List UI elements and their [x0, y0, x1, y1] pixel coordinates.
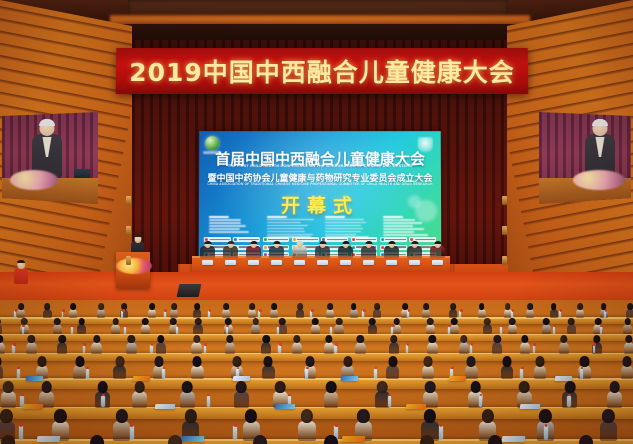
conference-booklet: [275, 404, 295, 409]
audience-member: [350, 302, 358, 318]
screen-credit-columns: [209, 216, 431, 238]
name-plate: [294, 260, 305, 265]
audience-member: [607, 378, 622, 408]
water-bottle: [448, 327, 450, 334]
wall-light-fixture: [126, 256, 131, 265]
wall-light-fixture: [502, 196, 507, 205]
audience-member: [0, 354, 3, 379]
audience-member: [426, 316, 435, 334]
audience-member: [542, 316, 551, 334]
audience-member: [576, 302, 584, 318]
seated-panelist: [315, 242, 330, 258]
audience-member: [191, 354, 204, 379]
water-bottle: [101, 396, 104, 408]
name-plate: [409, 260, 420, 265]
audience-member: [132, 378, 147, 408]
audience-member: [141, 316, 150, 334]
audience-member: [126, 333, 136, 354]
name-plate: [317, 260, 328, 265]
audience-member: [234, 378, 249, 408]
water-bottle: [207, 396, 210, 408]
audience-member: [113, 406, 130, 441]
audience-member: [450, 316, 459, 334]
audience-member: [113, 354, 126, 379]
audience-member: [261, 333, 271, 354]
audience-member: [418, 432, 438, 444]
audience-member: [180, 378, 195, 408]
main-led-screen: 首届中国中西融合儿童健康大会 THE FIRST CHILD HEALTH CO…: [199, 131, 442, 256]
audience-member: [0, 432, 18, 444]
water-bottle: [150, 345, 152, 353]
water-bottle: [593, 345, 595, 353]
water-bottle: [14, 311, 16, 317]
water-bottle: [19, 426, 23, 440]
audience-member: [225, 333, 235, 354]
audience-member: [368, 316, 377, 334]
audience-member: [111, 316, 120, 334]
name-plate: [248, 260, 259, 265]
seated-panelist: [384, 242, 399, 258]
auditorium-photograph: 2019中国中西融合儿童健康大会 首届中国中西融合儿童健康大会 THE FIRS…: [0, 0, 633, 444]
water-bottle: [22, 327, 24, 334]
audience-seating-area: [0, 300, 633, 444]
audience-member: [73, 354, 86, 379]
credit-column: [325, 216, 373, 238]
audience-member: [322, 432, 342, 444]
water-bottle: [12, 345, 14, 353]
right-projection-screen: [539, 112, 631, 204]
audience-member: [355, 333, 365, 354]
conference-booklet: [37, 436, 60, 442]
screen-title-en: THE FIRST CHILD HEALTH CONFERENCE ON THE…: [199, 164, 441, 168]
water-bottle: [406, 345, 408, 353]
audience-member: [459, 333, 469, 354]
audience-member: [43, 302, 51, 318]
water-bottle: [362, 311, 364, 317]
water-bottle: [334, 345, 336, 353]
feed-speaker-shirt: [596, 137, 605, 157]
audience-member: [1, 378, 16, 408]
audience-member: [520, 333, 530, 354]
feed-floral-arrangement: [10, 170, 58, 190]
conference-banner: 2019中国中西融合儿童健康大会: [116, 48, 529, 94]
banner-title: 2019中国中西融合儿童健康大会: [129, 53, 515, 89]
audience-member: [483, 316, 492, 334]
water-bottle: [278, 345, 280, 353]
audience-member: [624, 333, 633, 354]
seated-panelist: [246, 242, 261, 258]
audience-member: [57, 333, 67, 354]
audience-member: [298, 406, 315, 441]
audience-member: [193, 316, 202, 334]
water-bottle: [567, 396, 570, 408]
water-bottle: [544, 426, 548, 440]
water-bottle: [86, 369, 89, 379]
feed-floral-arrangement: [573, 170, 625, 190]
water-bottle: [470, 345, 472, 353]
seated-panelist: [430, 242, 445, 258]
conference-booklet: [502, 436, 525, 442]
water-bottle: [553, 327, 555, 334]
audience-member: [324, 378, 339, 408]
audience-member: [250, 432, 270, 444]
audience-member: [334, 316, 343, 334]
audience-member: [621, 354, 633, 379]
audience-member: [166, 432, 186, 444]
audience-member: [486, 432, 506, 444]
audience-member: [508, 316, 517, 334]
audience-member: [623, 316, 632, 334]
conference-booklet: [340, 376, 357, 381]
name-plate: [202, 260, 213, 265]
water-bottle: [407, 311, 409, 317]
name-plate: [363, 260, 374, 265]
audience-member: [389, 333, 399, 354]
audience-member: [534, 354, 547, 379]
credit-column: [267, 216, 315, 238]
water-bottle: [176, 327, 178, 334]
conference-booklet: [448, 376, 465, 381]
audience-member: [326, 302, 334, 318]
audience-member: [576, 432, 596, 444]
conference-booklet: [23, 404, 43, 409]
left-projection-screen: [2, 112, 98, 204]
name-plate: [386, 260, 397, 265]
wall-light-fixture: [502, 256, 507, 265]
water-bottle: [277, 327, 279, 334]
wall-light-fixture: [502, 226, 507, 235]
feed-speaker-shirt: [43, 137, 52, 157]
audience-member: [88, 432, 108, 444]
water-bottle: [388, 396, 391, 408]
audience-member: [600, 406, 617, 441]
water-bottle: [459, 311, 461, 317]
audience-member: [422, 354, 435, 379]
staff-member: [14, 258, 28, 284]
audience-member: [97, 302, 105, 318]
audience-member: [324, 333, 334, 354]
water-bottle: [164, 311, 166, 317]
screen-subtitle-en: CHINA ASSOCIATION OF TRADITIONAL CHINESE…: [199, 182, 441, 186]
water-bottle: [124, 327, 126, 334]
water-bottle: [305, 369, 308, 379]
conference-booklet: [342, 436, 365, 442]
audience-member: [427, 333, 437, 354]
audience-member: [156, 333, 166, 354]
seated-panelist: [292, 242, 307, 258]
audience-member: [292, 333, 302, 354]
name-plate: [225, 260, 236, 265]
water-bottle: [604, 311, 606, 317]
audience-member: [567, 316, 576, 334]
stage-monitor-speaker: [177, 284, 202, 297]
audience-member: [262, 354, 275, 379]
audience-member: [0, 316, 2, 334]
audience-member: [91, 333, 101, 354]
feed-speaker-hair: [592, 119, 608, 126]
audience-member: [501, 354, 514, 379]
audience-member: [251, 316, 260, 334]
wall-light-fixture: [126, 196, 131, 205]
water-bottle: [71, 327, 73, 334]
name-plate: [340, 260, 351, 265]
audience-member: [526, 302, 534, 318]
audience-member: [77, 316, 86, 334]
seated-panelist: [361, 242, 376, 258]
water-bottle: [439, 426, 443, 440]
conference-booklet: [154, 404, 174, 409]
water-bottle: [204, 345, 206, 353]
seated-panelist: [200, 242, 215, 258]
seated-panelist: [269, 242, 284, 258]
audience-member: [296, 302, 304, 318]
water-bottle: [208, 311, 210, 317]
audience-member: [53, 316, 62, 334]
credit-column: [209, 216, 257, 238]
water-bottle: [559, 311, 561, 317]
audience-member: [191, 333, 201, 354]
audience-member: [465, 354, 478, 379]
podium-floral-arrangement: [116, 258, 152, 274]
water-bottle: [121, 311, 123, 317]
screen-opening-ceremony-label: 开幕式: [199, 191, 441, 218]
seated-panelist: [338, 242, 353, 258]
water-bottle: [83, 345, 85, 353]
audience-member: [69, 302, 77, 318]
water-bottle: [580, 369, 583, 379]
seated-panelist: [223, 242, 238, 258]
feed-speaker-hair: [39, 119, 55, 126]
water-bottle: [130, 426, 134, 440]
seated-panelist: [407, 242, 422, 258]
water-bottle: [233, 426, 237, 440]
water-bottle: [17, 369, 20, 379]
audience-member: [26, 333, 36, 354]
audience-member: [559, 333, 569, 354]
name-plate: [432, 260, 443, 265]
water-bottle: [162, 369, 165, 379]
audience-member: [311, 316, 320, 334]
decorative-blob: [408, 195, 421, 208]
name-plate: [271, 260, 282, 265]
audience-member: [492, 333, 502, 354]
water-bottle: [533, 345, 535, 353]
audience-member: [386, 354, 399, 379]
wall-light-fixture: [126, 226, 131, 235]
audience-member: [0, 333, 5, 354]
